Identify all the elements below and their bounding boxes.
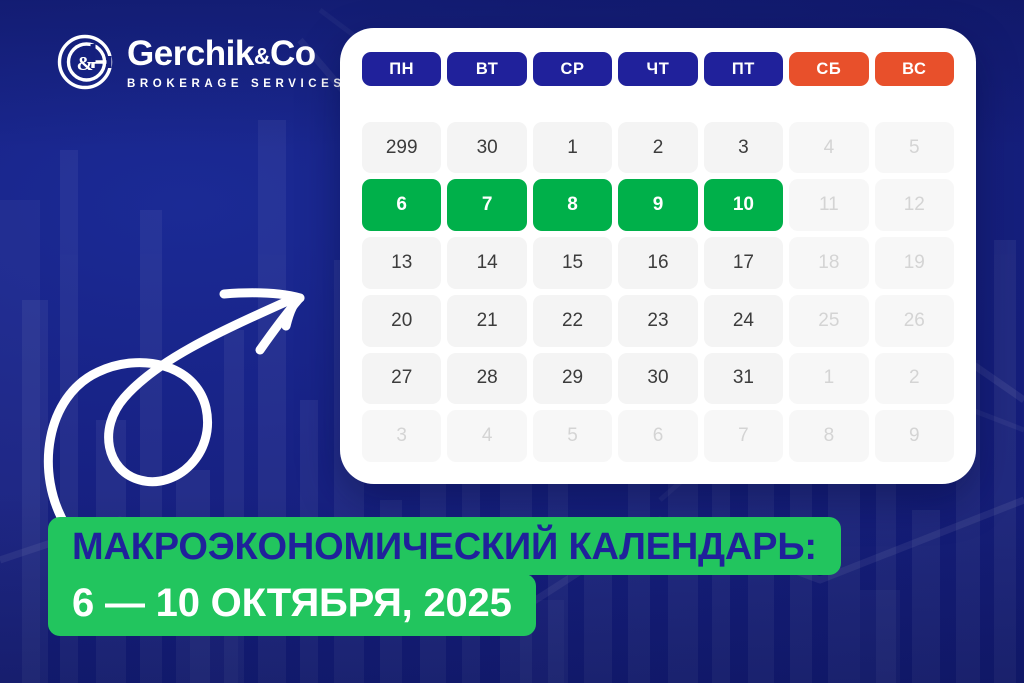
calendar-day-cell[interactable]: 2 xyxy=(618,122,697,174)
brand-ampersand: & xyxy=(254,43,270,69)
weekday-header-5: СБ xyxy=(789,52,868,86)
calendar-day-cell[interactable]: 19 xyxy=(875,237,954,289)
calendar-day-cell[interactable]: 17 xyxy=(704,237,783,289)
calendar-day-cell[interactable]: 13 xyxy=(362,237,441,289)
calendar-day-cell[interactable]: 11 xyxy=(789,179,868,231)
calendar-day-cell[interactable]: 14 xyxy=(447,237,526,289)
calendar-day-cell[interactable]: 1 xyxy=(789,353,868,405)
banner-title-line-1: МАКРОЭКОНОМИЧЕСКИЙ КАЛЕНДАРЬ: xyxy=(48,517,841,575)
title-banner: МАКРОЭКОНОМИЧЕСКИЙ КАЛЕНДАРЬ: 6 — 10 ОКТ… xyxy=(48,517,841,636)
calendar-day-cell[interactable]: 30 xyxy=(447,122,526,174)
calendar-day-cell[interactable]: 24 xyxy=(704,295,783,347)
svg-text:&: & xyxy=(77,53,94,75)
brand-name: Gerchik&Co xyxy=(127,36,346,71)
weekday-header-0: ПН xyxy=(362,52,441,86)
calendar-day-cell[interactable]: 29 xyxy=(533,353,612,405)
weekday-header-3: ЧТ xyxy=(618,52,697,86)
calendar-day-cell[interactable]: 3 xyxy=(362,410,441,462)
calendar-day-cell[interactable]: 1 xyxy=(533,122,612,174)
calendar-card: ПНВТСРЧТПТСБВС29930123456789101112131415… xyxy=(340,28,976,484)
calendar-day-cell[interactable]: 9 xyxy=(875,410,954,462)
calendar-day-cell[interactable]: 10 xyxy=(704,179,783,231)
brand-logo: & Gerchik&Co BROKERAGE SERVICES xyxy=(57,34,346,91)
calendar-day-cell[interactable]: 2 xyxy=(875,353,954,405)
calendar-day-cell[interactable]: 6 xyxy=(362,179,441,231)
calendar-day-cell[interactable]: 4 xyxy=(447,410,526,462)
brand-name-main: Gerchik xyxy=(127,34,254,73)
calendar-day-cell[interactable]: 8 xyxy=(789,410,868,462)
calendar-day-cell[interactable]: 9 xyxy=(618,179,697,231)
poster-canvas: & Gerchik&Co BROKERAGE SERVICES ПНВТСРЧТ… xyxy=(0,0,1024,683)
calendar-day-cell[interactable]: 22 xyxy=(533,295,612,347)
calendar-day-cell[interactable]: 21 xyxy=(447,295,526,347)
calendar-day-cell[interactable]: 27 xyxy=(362,353,441,405)
calendar-day-cell[interactable]: 7 xyxy=(704,410,783,462)
weekday-header-4: ПТ xyxy=(704,52,783,86)
calendar-day-cell[interactable]: 26 xyxy=(875,295,954,347)
calendar-day-cell[interactable]: 5 xyxy=(533,410,612,462)
calendar-day-cell[interactable]: 299 xyxy=(362,122,441,174)
calendar-day-cell[interactable]: 30 xyxy=(618,353,697,405)
calendar-day-cell[interactable]: 4 xyxy=(789,122,868,174)
calendar-day-cell[interactable]: 6 xyxy=(618,410,697,462)
calendar-day-cell[interactable]: 28 xyxy=(447,353,526,405)
calendar-day-cell[interactable]: 5 xyxy=(875,122,954,174)
calendar-day-cell[interactable]: 18 xyxy=(789,237,868,289)
calendar-day-cell[interactable]: 7 xyxy=(447,179,526,231)
calendar-day-cell[interactable]: 23 xyxy=(618,295,697,347)
calendar-day-cell[interactable]: 16 xyxy=(618,237,697,289)
calendar-day-cell[interactable]: 15 xyxy=(533,237,612,289)
banner-title-line-2: 6 — 10 ОКТЯБРЯ, 2025 xyxy=(48,574,536,636)
weekday-header-1: ВТ xyxy=(447,52,526,86)
calendar-day-cell[interactable]: 20 xyxy=(362,295,441,347)
calendar-day-cell[interactable]: 12 xyxy=(875,179,954,231)
calendar-grid: ПНВТСРЧТПТСБВС29930123456789101112131415… xyxy=(362,52,954,462)
calendar-day-cell[interactable]: 3 xyxy=(704,122,783,174)
calendar-day-cell[interactable]: 31 xyxy=(704,353,783,405)
gerchik-monogram-icon: & xyxy=(57,34,113,90)
weekday-header-6: ВС xyxy=(875,52,954,86)
calendar-day-cell[interactable]: 25 xyxy=(789,295,868,347)
calendar-day-cell[interactable]: 8 xyxy=(533,179,612,231)
brand-tagline: BROKERAGE SERVICES xyxy=(127,79,346,91)
brand-name-suffix: Co xyxy=(270,34,316,73)
weekday-header-2: СР xyxy=(533,52,612,86)
